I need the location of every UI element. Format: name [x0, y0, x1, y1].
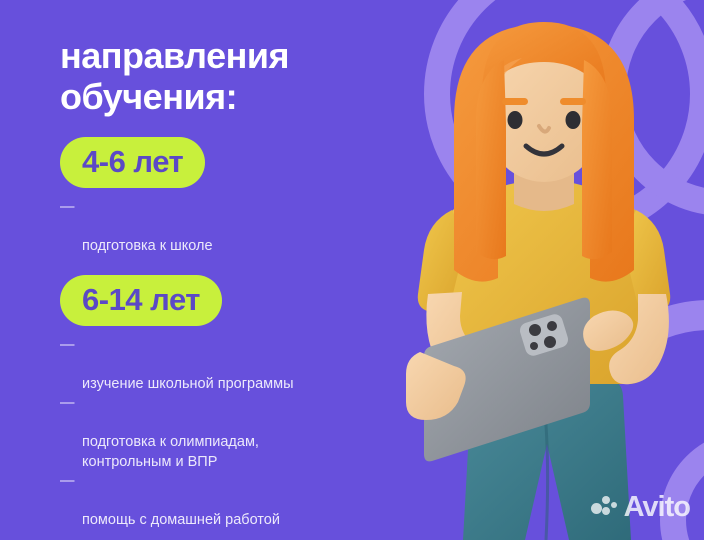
bullet-dash: —: [60, 336, 75, 356]
content-column: направления обучения: 4-6 лет — подготов…: [60, 36, 410, 540]
age-group-section-2: 6-14 лет — изучение школьной программы —…: [60, 275, 410, 531]
list-item: — подготовка к олимпиадам, контрольным и…: [60, 394, 410, 472]
list-item-text: помощь с домашней работой: [82, 512, 280, 528]
list-item-text: изучение школьной программы: [82, 376, 294, 392]
avito-watermark: Avito: [591, 493, 690, 522]
list-item: — изучение школьной программы: [60, 336, 410, 395]
character-eye-left: [508, 111, 523, 129]
character-eye-right: [566, 111, 581, 129]
age-badge-6-14[interactable]: 6-14 лет: [60, 275, 222, 326]
avito-dots-icon: [591, 496, 617, 520]
list-item: — помощь с домашней работой: [60, 472, 410, 531]
promo-poster: направления обучения: 4-6 лет — подготов…: [0, 0, 704, 540]
feature-list-2: — изучение школьной программы — подготов…: [60, 336, 410, 531]
character-brow-left: [502, 98, 528, 105]
age-group-section-1: 4-6 лет — подготовка к школе: [60, 137, 410, 257]
character-brow-right: [560, 98, 586, 105]
avito-wordmark: Avito: [624, 493, 690, 522]
feature-list-1: — подготовка к школе: [60, 198, 410, 257]
list-item-text: подготовка к школе: [82, 238, 213, 254]
bullet-dash: —: [60, 198, 75, 218]
page-title: направления обучения:: [60, 36, 410, 117]
bullet-dash: —: [60, 472, 75, 492]
bullet-dash: —: [60, 394, 75, 414]
age-badge-4-6[interactable]: 4-6 лет: [60, 137, 205, 188]
character-illustration: [398, 0, 704, 540]
list-item: — подготовка к школе: [60, 198, 410, 257]
list-item-text: подготовка к олимпиадам, контрольным и В…: [82, 434, 259, 470]
